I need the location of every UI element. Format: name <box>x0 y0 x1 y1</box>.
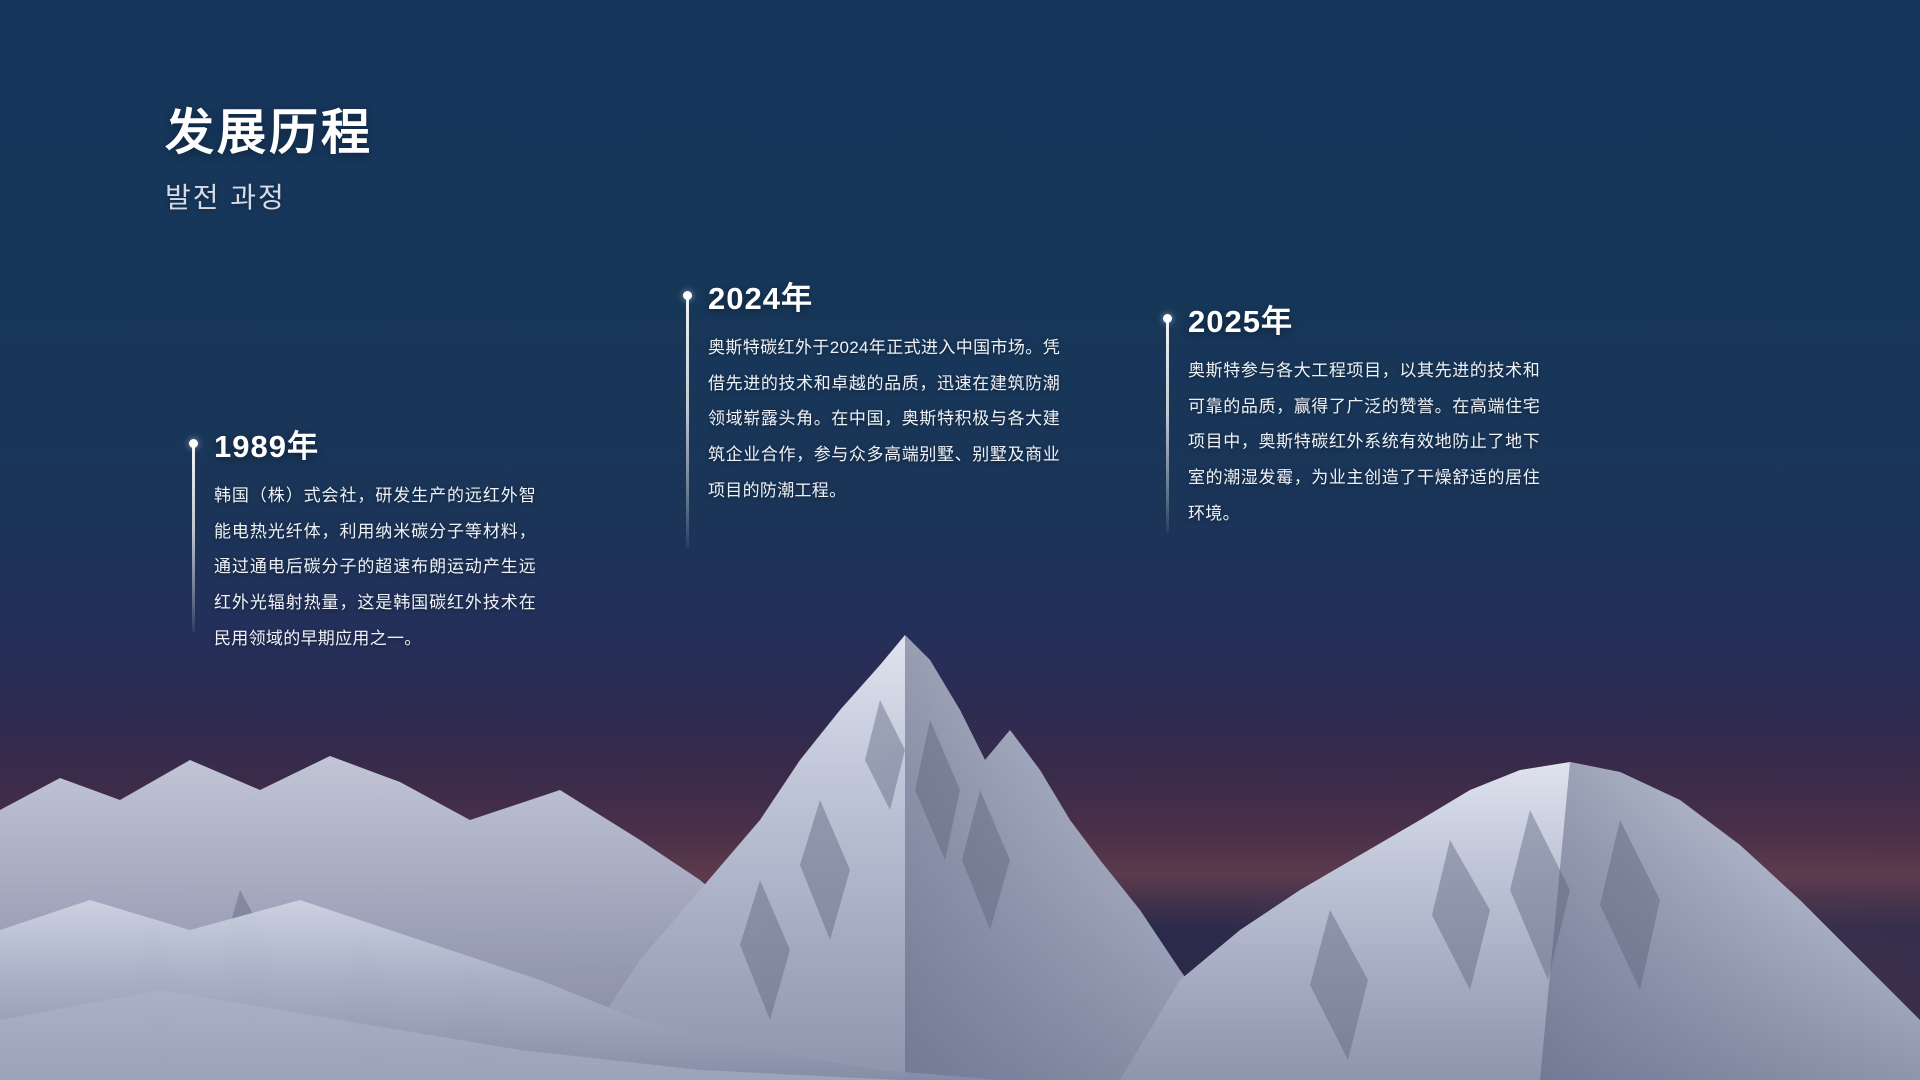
timeline-entry-body: 2024年 奥斯特碳红外于2024年正式进入中国市场。凭借先进的技术和卓越的品质… <box>708 282 1060 509</box>
page-subtitle: 발전 과정 <box>165 176 373 216</box>
timeline-entry-body: 1989年 韩国（株）式会社，研发生产的远红外智能电热光纤体，利用纳米碳分子等材… <box>214 430 536 657</box>
timeline-entry-body: 2025年 奥斯特参与各大工程项目，以其先进的技术和可靠的品质，赢得了广泛的赞誉… <box>1188 305 1540 532</box>
timeline-line-icon <box>686 298 689 548</box>
timeline-year-label: 2024年 <box>708 282 1060 316</box>
presentation-slide: 发展历程 발전 과정 1989年 韩国（株）式会社，研发生产的远红外智能电热光纤… <box>0 0 1920 1080</box>
timeline-line-icon <box>1166 321 1169 533</box>
timeline-description: 奥斯特碳红外于2024年正式进入中国市场。凭借先进的技术和卓越的品质，迅速在建筑… <box>708 330 1060 508</box>
timeline-description: 奥斯特参与各大工程项目，以其先进的技术和可靠的品质，赢得了广泛的赞誉。在高端住宅… <box>1188 353 1540 531</box>
timeline-year-label: 1989年 <box>214 430 536 464</box>
timeline-year-label: 2025年 <box>1188 305 1540 339</box>
timeline-description: 韩国（株）式会社，研发生产的远红外智能电热光纤体，利用纳米碳分子等材料，通过通电… <box>214 478 536 656</box>
timeline-entry-1989[interactable]: 1989年 韩国（株）式会社，研发生产的远红外智能电热光纤体，利用纳米碳分子等材… <box>186 430 536 657</box>
slide-title-block: 发展历程 발전 과정 <box>165 105 373 216</box>
page-title: 发展历程 <box>165 105 373 162</box>
timeline-entry-2025[interactable]: 2025年 奥斯特参与各大工程项目，以其先进的技术和可靠的品质，赢得了广泛的赞誉… <box>1160 305 1540 532</box>
timeline-line-icon <box>192 446 195 632</box>
timeline-entry-2024[interactable]: 2024年 奥斯特碳红外于2024年正式进入中国市场。凭借先进的技术和卓越的品质… <box>680 282 1060 509</box>
